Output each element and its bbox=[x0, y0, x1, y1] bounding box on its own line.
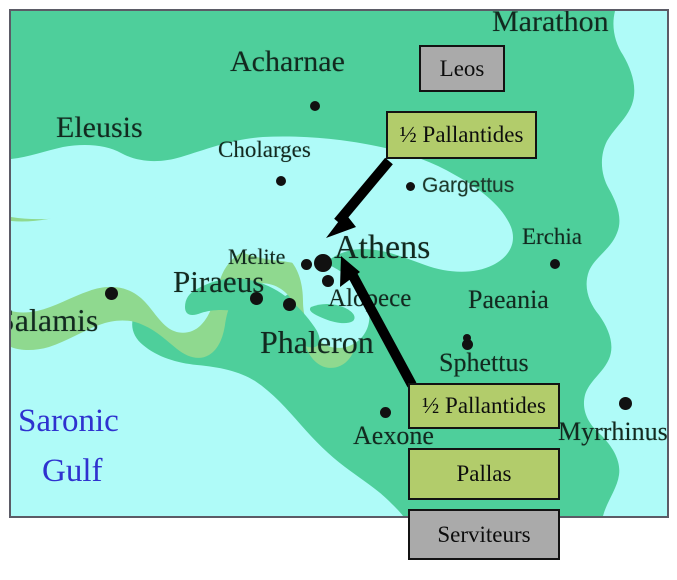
label-marathon: Marathon bbox=[492, 9, 609, 39]
label-phaleron: Phaleron bbox=[260, 324, 374, 361]
annotation-label-serviteurs: Serviteurs bbox=[437, 522, 530, 548]
label-athens: Athens bbox=[334, 229, 430, 267]
label-gulf: Gulf bbox=[42, 453, 103, 490]
label-erchia: Erchia bbox=[522, 224, 582, 250]
label-saronic: Saronic bbox=[18, 403, 119, 440]
annotation-label-pallas: Pallas bbox=[457, 461, 512, 487]
city-dot-sphettus bbox=[463, 334, 471, 342]
city-dot-acharnae bbox=[310, 101, 320, 111]
label-cholarges: Cholarges bbox=[218, 137, 311, 163]
city-dot-cholarges bbox=[276, 176, 286, 186]
city-dot-aexone bbox=[380, 407, 391, 418]
city-dot-phaleron bbox=[283, 298, 296, 311]
label-myrrhinus: Myrrhinus bbox=[558, 417, 668, 447]
label-salamis: Salamis bbox=[9, 302, 98, 339]
city-dot-melite bbox=[301, 259, 312, 270]
attica-map: Marathon Acharnae Eleusis Cholarges Garg… bbox=[9, 9, 669, 518]
annotation-label-leos: Leos bbox=[440, 56, 485, 82]
label-piraeus: Piraeus bbox=[173, 264, 264, 300]
annotation-box-pallantides-north[interactable]: ½ Pallantides bbox=[386, 111, 537, 159]
annotation-box-pallas[interactable]: Pallas bbox=[408, 448, 560, 500]
city-dot-myrrhinus bbox=[619, 397, 632, 410]
label-sphettus: Sphettus bbox=[439, 348, 529, 378]
label-alopece: Alopece bbox=[328, 285, 411, 313]
label-acharnae: Acharnae bbox=[230, 45, 345, 79]
city-dot-athens bbox=[314, 254, 332, 272]
city-dot-erchia bbox=[550, 259, 560, 269]
annotation-box-pallantides-south[interactable]: ½ Pallantides bbox=[408, 383, 560, 429]
label-paeania: Paeania bbox=[468, 285, 549, 315]
annotation-label-pallantides-north: ½ Pallantides bbox=[400, 122, 524, 148]
annotation-box-serviteurs[interactable]: Serviteurs bbox=[408, 509, 560, 560]
city-dot-gargettus bbox=[406, 182, 415, 191]
label-eleusis: Eleusis bbox=[56, 111, 143, 145]
annotation-box-leos[interactable]: Leos bbox=[419, 45, 505, 92]
label-gargettus: Gargettus bbox=[422, 174, 514, 198]
annotation-label-pallantides-south: ½ Pallantides bbox=[422, 393, 546, 419]
city-dot-salamis bbox=[105, 287, 118, 300]
